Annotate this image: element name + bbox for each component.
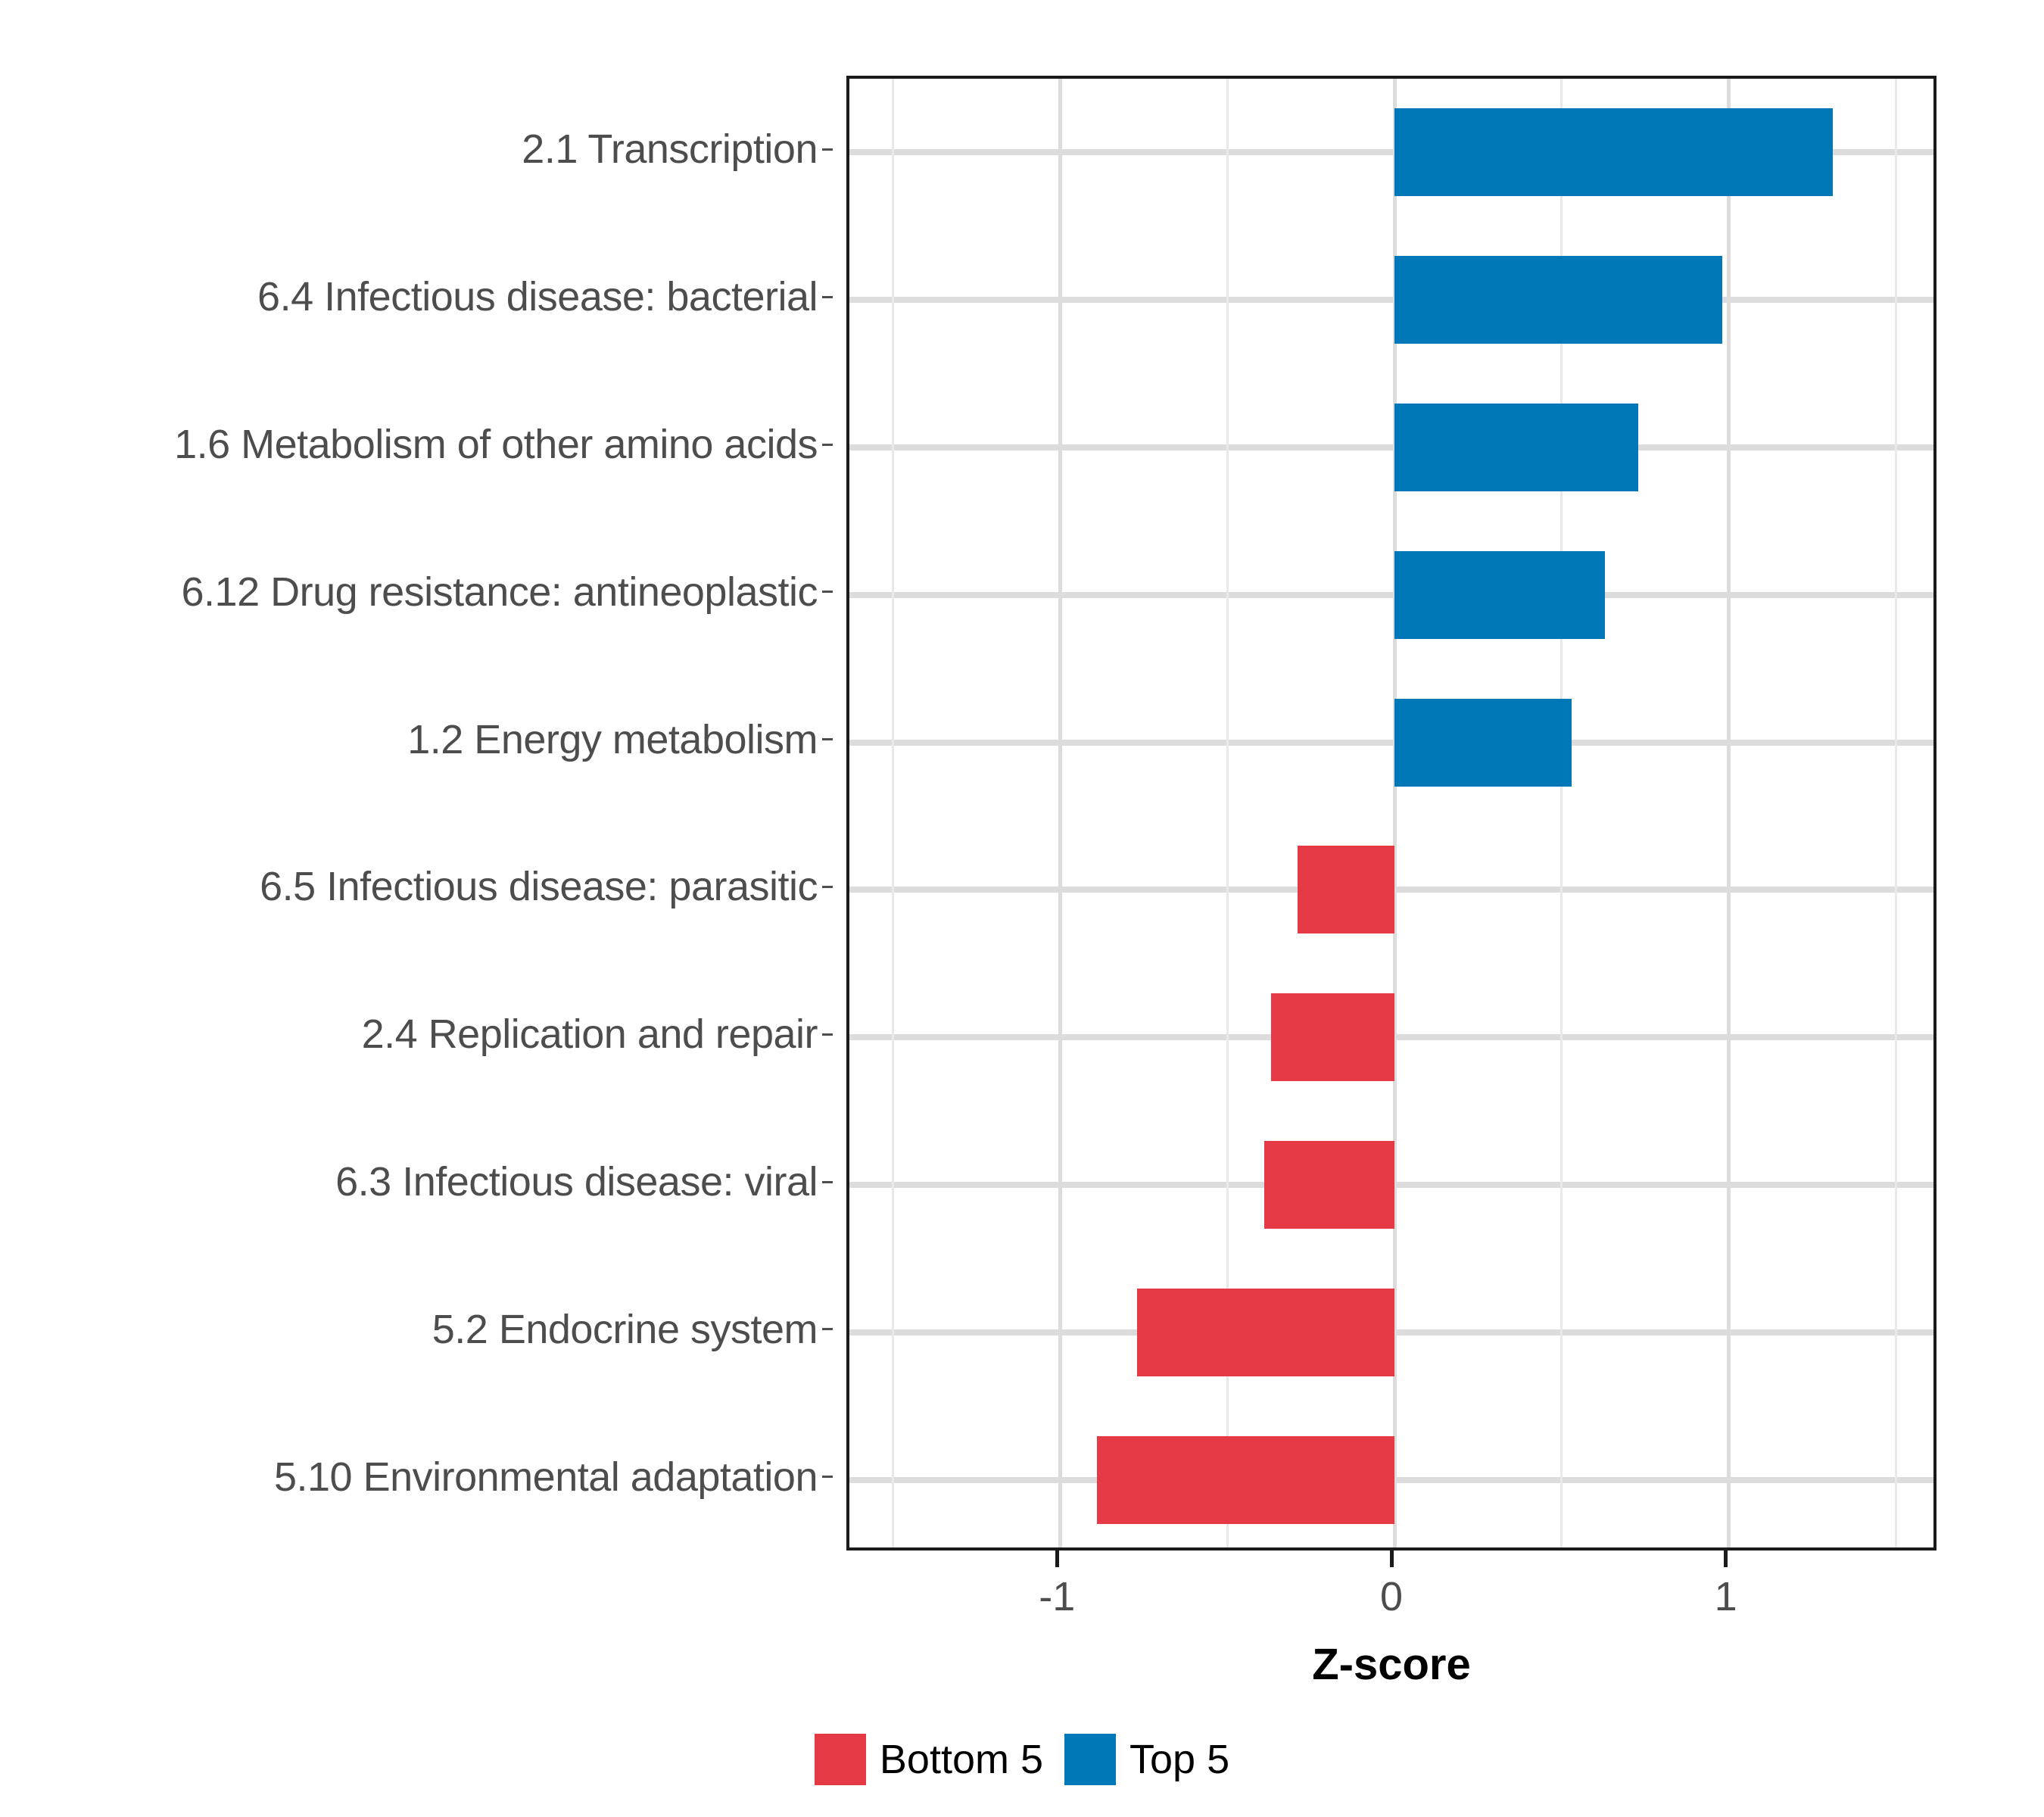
- y-axis-tick-mark: [822, 1328, 833, 1330]
- y-axis-tick-label: 1.2 Energy metabolism: [0, 717, 833, 762]
- x-axis-title: Z-score: [846, 1639, 1937, 1690]
- grid-line-horizontal: [849, 297, 1933, 303]
- y-axis-tick-label: 6.5 Infectious disease: parasitic: [0, 864, 833, 909]
- grid-line-horizontal: [849, 740, 1933, 746]
- y-axis-tick-label: 6.4 Infectious disease: bacterial: [0, 274, 833, 319]
- y-axis-label-text: 6.12 Drug resistance: antineoplastic: [182, 569, 818, 616]
- bar: [1394, 256, 1722, 344]
- grid-line-vertical-major: [1058, 79, 1062, 1547]
- legend-label: Top 5: [1129, 1736, 1229, 1783]
- bar: [1394, 404, 1638, 491]
- bar: [1394, 108, 1833, 196]
- x-axis-tick-label: -1: [1039, 1573, 1075, 1620]
- zscore-bar-chart: 2.1 Transcription6.4 Infectious disease:…: [0, 0, 2044, 1817]
- y-axis-labels: 2.1 Transcription6.4 Infectious disease:…: [0, 76, 844, 1548]
- y-axis-label-text: 6.3 Infectious disease: viral: [335, 1158, 818, 1205]
- y-axis-tick-label: 6.12 Drug resistance: antineoplastic: [0, 569, 833, 615]
- y-axis-label-text: 6.5 Infectious disease: parasitic: [260, 863, 818, 910]
- y-axis-tick-label: 6.3 Infectious disease: viral: [0, 1159, 833, 1205]
- y-axis-tick-label: 1.6 Metabolism of other amino acids: [0, 422, 833, 467]
- y-axis-label-text: 5.2 Endocrine system: [432, 1306, 818, 1353]
- legend-label: Bottom 5: [880, 1736, 1043, 1783]
- plot-panel: [846, 76, 1937, 1551]
- grid-line-vertical-major: [1727, 79, 1731, 1547]
- x-axis-tick-mark: [1724, 1551, 1728, 1567]
- bar: [1137, 1289, 1394, 1376]
- x-axis-tick-mark: [1390, 1551, 1394, 1567]
- bar: [1394, 551, 1605, 639]
- legend-swatch: [815, 1734, 866, 1785]
- y-axis-tick-label: 2.1 Transcription: [0, 126, 833, 172]
- legend-item[interactable]: Top 5: [1064, 1734, 1229, 1785]
- y-axis-tick-label: 2.4 Replication and repair: [0, 1011, 833, 1057]
- y-axis-tick-mark: [822, 738, 833, 740]
- x-axis-tick-mark: [1055, 1551, 1059, 1567]
- y-axis-tick-mark: [822, 1181, 833, 1183]
- grid-line-vertical-minor: [1895, 79, 1897, 1547]
- bar: [1298, 846, 1394, 933]
- bar: [1394, 699, 1572, 787]
- grid-line-horizontal: [849, 592, 1933, 598]
- y-axis-tick-mark: [822, 148, 833, 151]
- y-axis-tick-mark: [822, 1033, 833, 1036]
- bar: [1264, 1141, 1394, 1229]
- y-axis-label-text: 2.1 Transcription: [522, 126, 818, 173]
- y-axis-tick-mark: [822, 591, 833, 593]
- y-axis-tick-mark: [822, 1476, 833, 1478]
- y-axis-tick-mark: [822, 886, 833, 888]
- y-axis-label-text: 1.6 Metabolism of other amino acids: [174, 421, 818, 468]
- y-axis-label-text: 2.4 Replication and repair: [362, 1011, 818, 1058]
- y-axis-tick-label: 5.2 Endocrine system: [0, 1307, 833, 1352]
- x-axis-tick-label: 1: [1715, 1573, 1737, 1620]
- bar: [1097, 1436, 1394, 1524]
- y-axis-label-text: 5.10 Environmental adaptation: [274, 1454, 818, 1501]
- grid-line-vertical-minor: [892, 79, 894, 1547]
- y-axis-label-text: 1.2 Energy metabolism: [407, 716, 818, 763]
- bar: [1271, 993, 1394, 1081]
- y-axis-tick-label: 5.10 Environmental adaptation: [0, 1454, 833, 1500]
- y-axis-label-text: 6.4 Infectious disease: bacterial: [257, 273, 818, 320]
- grid-line-horizontal: [849, 444, 1933, 450]
- y-axis-tick-mark: [822, 296, 833, 298]
- y-axis-tick-mark: [822, 444, 833, 446]
- chart-legend: Bottom 5Top 5: [0, 1734, 2044, 1785]
- legend-item[interactable]: Bottom 5: [815, 1734, 1043, 1785]
- legend-swatch: [1064, 1734, 1116, 1785]
- x-axis-tick-label: 0: [1380, 1573, 1403, 1620]
- plot-area: [849, 79, 1933, 1547]
